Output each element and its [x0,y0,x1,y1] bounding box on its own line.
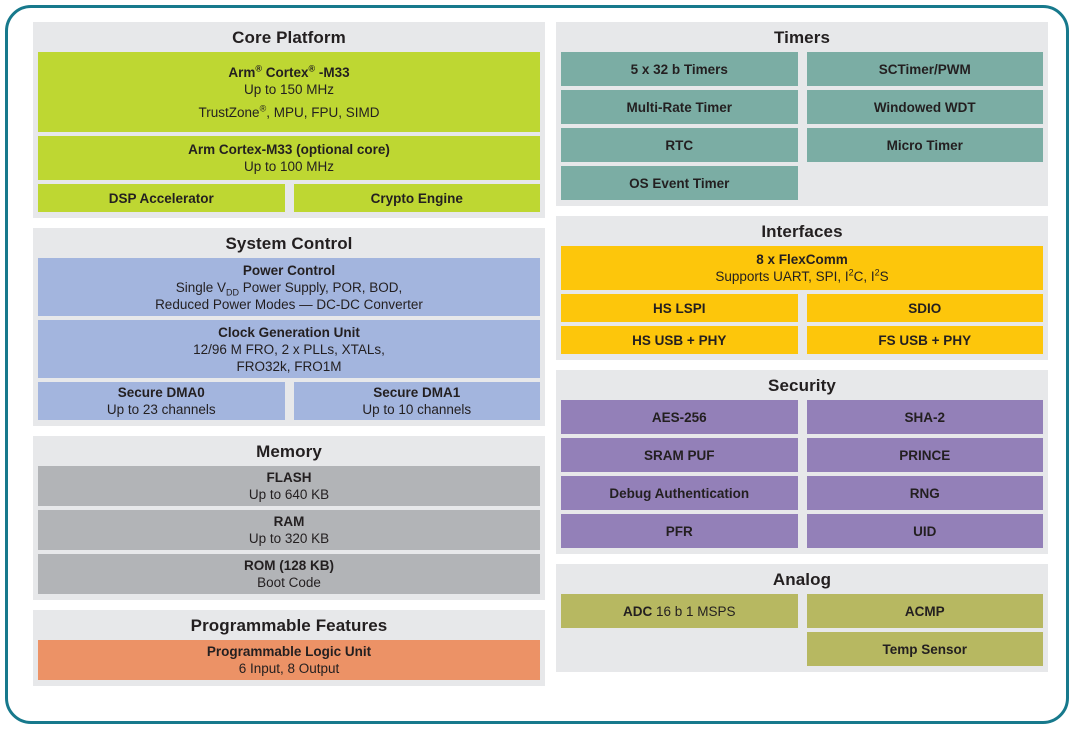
security-right-label-3: UID [913,523,936,540]
diagram-frame: Core Platform Arm® Cortex® -M33 Up to 15… [5,5,1069,724]
block-cortex-m33[interactable]: Arm® Cortex® -M33 Up to 150 MHz TrustZon… [38,52,540,132]
power-control-title: Power Control [243,262,335,279]
security-right-label-2: RNG [910,485,940,502]
block-debug-authentication[interactable]: Debug Authentication [561,476,798,510]
panel-system-control: System Control Power Control Single VDD … [33,228,545,426]
panel-title-interfaces: Interfaces [561,220,1043,246]
optional-core-speed: Up to 100 MHz [244,158,334,175]
block-sctimer-pwm[interactable]: SCTimer/PWM [807,52,1044,86]
security-row-1: AES-256 SHA-2 [561,400,1043,434]
flash-title: FLASH [267,469,312,486]
block-hs-usb-phy[interactable]: HS USB + PHY [561,326,798,354]
power-control-line2: Reduced Power Modes — DC-DC Converter [155,296,423,313]
security-row-3: Debug Authentication RNG [561,476,1043,510]
block-sram-puf[interactable]: SRAM PUF [561,438,798,472]
left-column: Core Platform Arm® Cortex® -M33 Up to 15… [33,22,545,715]
timers-row-2: Multi-Rate Timer Windowed WDT [561,90,1043,124]
interfaces-left-label-0: HS LSPI [653,300,706,317]
panel-title-timers: Timers [561,26,1043,52]
panel-memory: Memory FLASH Up to 640 KB RAM Up to 320 … [33,436,545,600]
core-accelerator-row: DSP Accelerator Crypto Engine [38,184,540,212]
panel-interfaces: Interfaces 8 x FlexComm Supports UART, S… [556,216,1048,360]
panel-title-core-platform: Core Platform [38,26,540,52]
block-prince[interactable]: PRINCE [807,438,1044,472]
analog-row-1: ADC 16 b 1 MSPS ACMP [561,594,1043,628]
timers-row-4: OS Event Timer [561,166,1043,200]
timers-right-label-2: Micro Timer [887,137,963,154]
ram-sub: Up to 320 KB [249,530,329,547]
block-uid[interactable]: UID [807,514,1044,548]
timers-row-1: 5 x 32 b Timers SCTimer/PWM [561,52,1043,86]
block-crypto-engine[interactable]: Crypto Engine [294,184,541,212]
timers-right-label-0: SCTimer/PWM [879,61,971,78]
ram-title: RAM [274,513,305,530]
block-sha-2[interactable]: SHA-2 [807,400,1044,434]
crypto-engine-label: Crypto Engine [371,190,463,207]
timers-left-label-3: OS Event Timer [629,175,729,192]
security-row-2: SRAM PUF PRINCE [561,438,1043,472]
timers-right-label-1: Windowed WDT [874,99,976,116]
block-temp-sensor[interactable]: Temp Sensor [807,632,1044,666]
block-dsp-accelerator[interactable]: DSP Accelerator [38,184,285,212]
analog-right-label-1: Temp Sensor [882,641,967,658]
block-os-event-timer[interactable]: OS Event Timer [561,166,798,200]
adc-label: ADC 16 b 1 MSPS [623,603,736,620]
block-windowed-wdt[interactable]: Windowed WDT [807,90,1044,124]
panel-title-memory: Memory [38,440,540,466]
dma0-sub: Up to 23 channels [107,401,216,418]
panel-title-system-control: System Control [38,232,540,258]
dma1-title: Secure DMA1 [373,384,460,401]
block-hs-lspi[interactable]: HS LSPI [561,294,798,322]
plu-title: Programmable Logic Unit [207,643,371,660]
block-ram[interactable]: RAM Up to 320 KB [38,510,540,550]
security-row-4: PFR UID [561,514,1043,548]
block-flash[interactable]: FLASH Up to 640 KB [38,466,540,506]
panel-analog: Analog ADC 16 b 1 MSPS ACMP Temp Sensor [556,564,1048,672]
flexcomm-title: 8 x FlexComm [756,251,848,268]
block-acmp[interactable]: ACMP [807,594,1044,628]
plu-sub: 6 Input, 8 Output [239,660,340,677]
panel-security: Security AES-256 SHA-2 SRAM PUF PRINCE [556,370,1048,554]
dsp-accelerator-label: DSP Accelerator [109,190,214,207]
analog-right-label-0: ACMP [905,603,945,620]
block-secure-dma1[interactable]: Secure DMA1 Up to 10 channels [294,382,541,420]
block-fs-usb-phy[interactable]: FS USB + PHY [807,326,1044,354]
optional-core-title: Arm Cortex-M33 (optional core) [188,141,390,158]
security-left-label-3: PFR [666,523,693,540]
clock-unit-title: Clock Generation Unit [218,324,360,341]
timers-left-label-0: 5 x 32 b Timers [631,61,728,78]
interfaces-right-label-1: FS USB + PHY [878,332,971,349]
block-clock-generation-unit[interactable]: Clock Generation Unit 12/96 M FRO, 2 x P… [38,320,540,378]
cortex-m33-name: Arm® Cortex® -M33 [228,64,349,81]
timers-left-label-2: RTC [665,137,693,154]
panel-programmable-features: Programmable Features Programmable Logic… [33,610,545,686]
dma0-title: Secure DMA0 [118,384,205,401]
panel-title-analog: Analog [561,568,1043,594]
panel-core-platform: Core Platform Arm® Cortex® -M33 Up to 15… [33,22,545,218]
flash-sub: Up to 640 KB [249,486,329,503]
interfaces-row-2: HS USB + PHY FS USB + PHY [561,326,1043,354]
block-programmable-logic-unit[interactable]: Programmable Logic Unit 6 Input, 8 Outpu… [38,640,540,680]
block-aes-256[interactable]: AES-256 [561,400,798,434]
security-left-label-1: SRAM PUF [644,447,715,464]
power-control-line1: Single VDD Power Supply, POR, BOD, [176,279,403,296]
rom-sub: Boot Code [257,574,321,591]
block-secure-dma0[interactable]: Secure DMA0 Up to 23 channels [38,382,285,420]
analog-row-2: Temp Sensor [561,632,1043,666]
dma-row: Secure DMA0 Up to 23 channels Secure DMA… [38,382,540,420]
block-cortex-m33-optional[interactable]: Arm Cortex-M33 (optional core) Up to 100… [38,136,540,180]
cortex-m33-speed: Up to 150 MHz [244,81,334,98]
flexcomm-sub: Supports UART, SPI, I2C, I2S [715,268,888,285]
panel-title-programmable-features: Programmable Features [38,614,540,640]
block-pfr[interactable]: PFR [561,514,798,548]
block-flexcomm[interactable]: 8 x FlexComm Supports UART, SPI, I2C, I2… [561,246,1043,290]
timers-left-label-1: Multi-Rate Timer [626,99,732,116]
security-right-label-0: SHA-2 [904,409,945,426]
block-rng[interactable]: RNG [807,476,1044,510]
block-adc[interactable]: ADC 16 b 1 MSPS [561,594,798,628]
security-left-label-2: Debug Authentication [609,485,749,502]
block-32b-timers[interactable]: 5 x 32 b Timers [561,52,798,86]
right-column: Timers 5 x 32 b Timers SCTimer/PWM Multi… [556,22,1048,715]
cortex-m33-features: TrustZone®, MPU, FPU, SIMD [199,104,380,121]
interfaces-left-label-1: HS USB + PHY [632,332,726,349]
rom-title: ROM (128 KB) [244,557,334,574]
block-sdio[interactable]: SDIO [807,294,1044,322]
security-left-label-0: AES-256 [652,409,707,426]
block-multi-rate-timer[interactable]: Multi-Rate Timer [561,90,798,124]
timers-row-3: RTC Micro Timer [561,128,1043,162]
diagram-columns: Core Platform Arm® Cortex® -M33 Up to 15… [33,22,1048,715]
panel-timers: Timers 5 x 32 b Timers SCTimer/PWM Multi… [556,22,1048,206]
dma1-sub: Up to 10 channels [362,401,471,418]
interfaces-row-1: HS LSPI SDIO [561,294,1043,322]
block-micro-timer[interactable]: Micro Timer [807,128,1044,162]
panel-title-security: Security [561,374,1043,400]
clock-unit-line2: FRO32k, FRO1M [236,358,341,375]
interfaces-right-label-0: SDIO [908,300,941,317]
clock-unit-line1: 12/96 M FRO, 2 x PLLs, XTALs, [193,341,385,358]
block-power-control[interactable]: Power Control Single VDD Power Supply, P… [38,258,540,316]
block-rom[interactable]: ROM (128 KB) Boot Code [38,554,540,594]
security-right-label-1: PRINCE [899,447,950,464]
block-rtc[interactable]: RTC [561,128,798,162]
